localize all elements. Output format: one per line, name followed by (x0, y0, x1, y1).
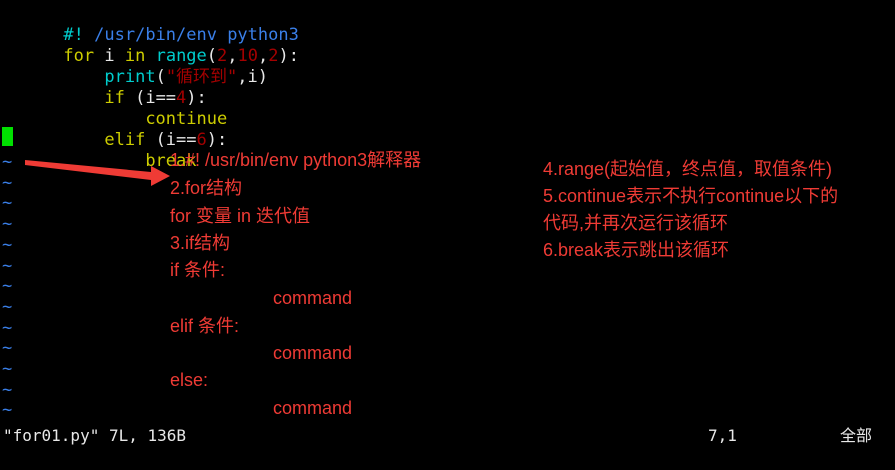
code-token-rparen-colon: ): (207, 130, 227, 150)
empty-line-tilde: ~ (2, 276, 12, 297)
empty-line-tilde: ~ (2, 256, 12, 277)
red-arrow-annotation (18, 150, 188, 196)
annotation-right-line-1: 4.range(起始值，终点值，取值条件) (543, 159, 832, 179)
empty-line-tilde: ~ (2, 297, 12, 318)
status-cursor-position: 7,1 (708, 425, 737, 447)
code-token-number-6: 6 (197, 130, 207, 150)
code-token-rparen-colon: ): (279, 46, 299, 66)
empty-line-tilde: ~ (2, 193, 12, 214)
annotation-left-line-3: for 变量 in 迭代值 (170, 206, 310, 226)
empty-line-tilde: ~ (2, 214, 12, 235)
annotation-right-line-4: 6.break表示跳出该循环 (543, 240, 729, 260)
annotation-left-line-10: command (273, 398, 352, 418)
vim-terminal-screen[interactable]: #! /usr/bin/env python3 for i in range(2… (0, 0, 895, 470)
annotation-left-line-6: command (273, 288, 352, 308)
vim-status-line: "for01.py" 7L, 136B 7,1 全部 (0, 422, 895, 452)
empty-line-tilde: ~ (2, 318, 12, 339)
empty-line-tilde: ~ (2, 338, 12, 359)
status-scroll-indicator: 全部 (840, 425, 872, 447)
annotation-left-line-4: 3.if结构 (170, 233, 230, 253)
empty-line-tilde: ~ (2, 400, 12, 421)
empty-line-tilde: ~ (2, 359, 12, 380)
annotation-left-line-1: 1.#! /usr/bin/env python3解释器 (170, 150, 421, 170)
empty-line-tilde: ~ (2, 152, 12, 173)
annotation-left-line-9: else: (170, 370, 208, 390)
annotation-left-line-7: elif 条件: (170, 316, 239, 336)
code-token-step-value: 2 (268, 46, 278, 66)
annotation-right-line-2: 5.continue表示不执行continue以下的 (543, 186, 838, 206)
vim-text-buffer[interactable]: #! /usr/bin/env python3 for i in range(2… (0, 0, 895, 422)
annotation-left-line-5: if 条件: (170, 260, 225, 280)
empty-line-tilde: ~ (2, 173, 12, 194)
annotation-left-line-2: 2.for结构 (170, 178, 242, 198)
annotation-left-line-8: command (273, 343, 352, 363)
code-token-arg-i: ,i) (237, 67, 268, 87)
text-cursor (2, 127, 13, 146)
empty-line-tilde: ~ (2, 235, 12, 256)
empty-line-tilde: ~ (2, 380, 12, 401)
annotation-right-line-3: 代码,并再次运行该循环 (543, 213, 728, 233)
status-file-info: "for01.py" 7L, 136B (3, 425, 186, 447)
